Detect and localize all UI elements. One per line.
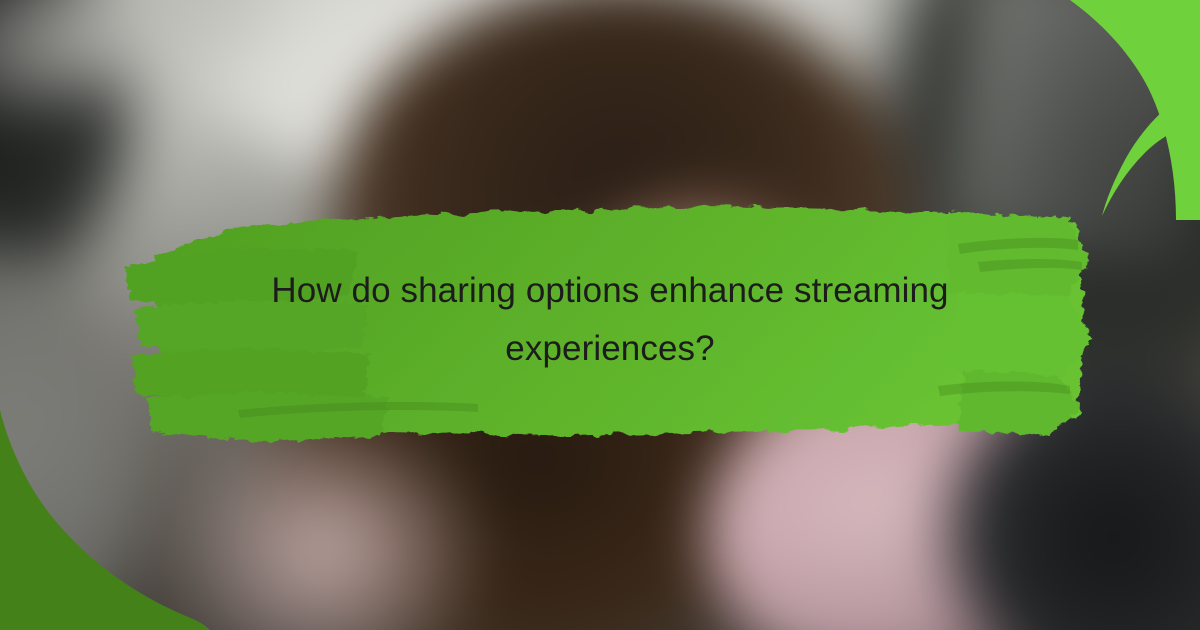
headline: How do sharing options enhance streaming… bbox=[170, 262, 1050, 378]
article-share-card: How do sharing options enhance streaming… bbox=[0, 0, 1200, 630]
headline-line-2: experiences? bbox=[170, 320, 1050, 378]
brush-lobe-4 bbox=[148, 392, 388, 442]
headline-line-1: How do sharing options enhance streaming bbox=[170, 262, 1050, 320]
